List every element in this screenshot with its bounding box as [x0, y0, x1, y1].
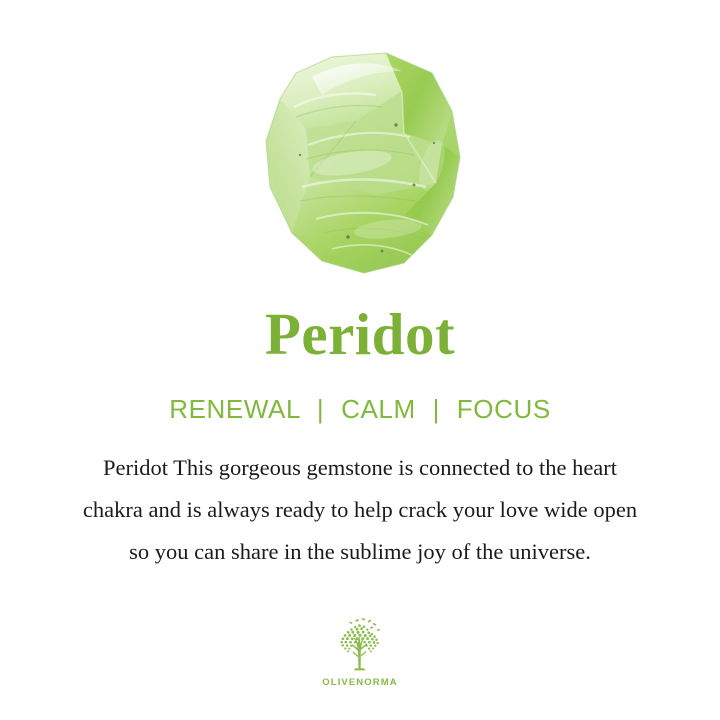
olive-tree-icon: [329, 614, 391, 676]
keyword-focus: FOCUS: [457, 394, 551, 424]
keyword-calm: CALM: [341, 394, 416, 424]
keyword-list: RENEWAL | CALM | FOCUS: [0, 393, 720, 425]
description-line: so you can share in the sublime joy of t…: [18, 531, 702, 573]
keyword-separator: |: [308, 393, 333, 425]
raw-peridot-crystal-illustration: [236, 37, 484, 285]
description-line: chakra and is always ready to help crack…: [18, 489, 702, 531]
description-line: Peridot This gorgeous gemstone is connec…: [18, 447, 702, 489]
peridot-info-card: Peridot RENEWAL | CALM | FOCUS Peridot T…: [0, 0, 720, 720]
brand-wordmark: OLIVENORMA: [322, 677, 397, 688]
brand-logo: OLIVENORMA: [0, 614, 720, 688]
keyword-renewal: RENEWAL: [169, 394, 300, 424]
keyword-separator: |: [424, 393, 449, 425]
page-title: Peridot: [0, 303, 720, 365]
gemstone-image: [0, 30, 720, 292]
description-text: Peridot This gorgeous gemstone is connec…: [18, 447, 702, 573]
